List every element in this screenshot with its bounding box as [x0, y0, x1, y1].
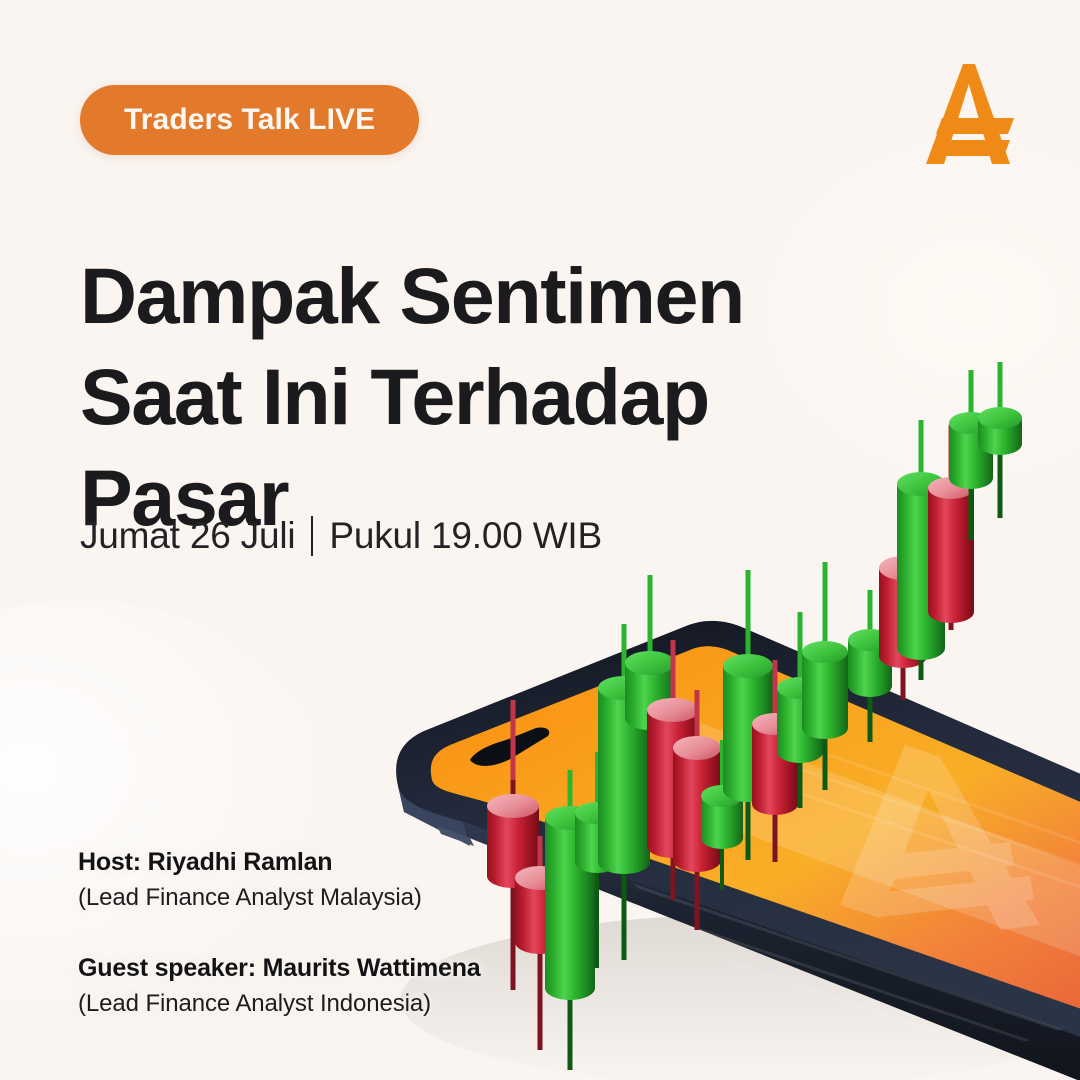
traders-talk-live-badge[interactable]: Traders Talk LIVE: [80, 85, 419, 155]
event-time: Pukul 19.00 WIB: [329, 515, 602, 557]
event-date: Jumat 26 Juli: [80, 515, 295, 557]
host-name: Host: Riyadhi Ramlan: [78, 848, 481, 877]
host-entry: Host: Riyadhi Ramlan (Lead Finance Analy…: [78, 848, 481, 912]
phone-notch: [470, 727, 549, 765]
guest-speaker-role: (Lead Finance Analyst Indonesia): [78, 990, 481, 1018]
headline-line-1: Dampak Sentimen: [80, 245, 840, 346]
phone-body: [396, 621, 1080, 1080]
badge-label: Traders Talk LIVE: [124, 103, 375, 137]
page-title: Dampak Sentimen Saat Ini Terhadap Pasar: [80, 245, 840, 548]
poster-canvas: Traders Talk LIVE Dampak Sentimen Saat I…: [0, 0, 1080, 1080]
guest-speaker-name: Guest speaker: Maurits Wattimena: [78, 954, 481, 983]
phone-side-button: [437, 826, 474, 846]
speakers-block: Host: Riyadhi Ramlan (Lead Finance Analy…: [78, 848, 481, 1018]
event-schedule: Jumat 26 Juli Pukul 19.00 WIB: [80, 515, 602, 557]
headline-line-2: Saat Ini Terhadap: [80, 346, 840, 447]
host-role: (Lead Finance Analyst Malaysia): [78, 884, 481, 912]
ascendex-a-logo-icon: [918, 58, 1022, 170]
schedule-divider: [311, 516, 313, 556]
guest-speaker-entry: Guest speaker: Maurits Wattimena (Lead F…: [78, 954, 481, 1018]
